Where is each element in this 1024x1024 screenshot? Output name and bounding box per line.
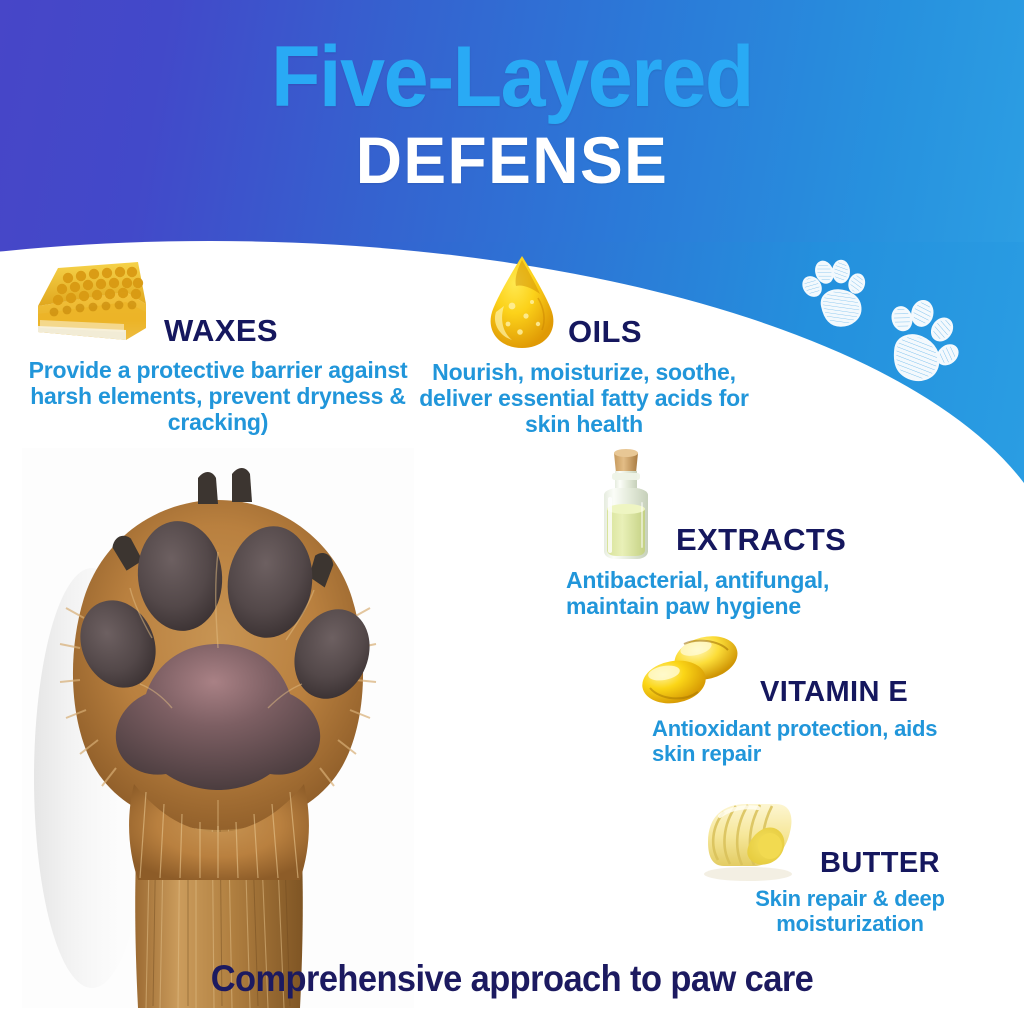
ingredient-butter-head: BUTTER xyxy=(690,798,998,882)
ingredient-extracts-head: EXTRACTS xyxy=(588,447,896,563)
ingredient-waxes-head: WAXES xyxy=(28,252,422,352)
ingredient-oils-name: OILS xyxy=(568,316,642,347)
ingredient-oils-description: Nourish, moisturize, soothe, deliver ess… xyxy=(404,360,764,437)
oil-droplet-icon xyxy=(482,250,562,354)
ingredient-waxes-description: Provide a protective barrier against har… xyxy=(22,358,414,435)
ingredient-extracts: EXTRACTS Antibacterial, antifungal, main… xyxy=(566,447,896,620)
ingredient-oils-head: OILS xyxy=(482,250,774,354)
ingredient-oils: OILS Nourish, moisturize, soothe, delive… xyxy=(404,250,774,437)
page-title: Five-Layered xyxy=(31,34,994,120)
ingredient-extracts-description: Antibacterial, antifungal, maintain paw … xyxy=(566,568,896,620)
honeycomb-icon xyxy=(28,252,154,352)
ingredient-waxes: WAXES Provide a protective barrier again… xyxy=(22,252,422,435)
ingredient-waxes-name: WAXES xyxy=(164,315,278,346)
dog-paw-photo xyxy=(22,448,414,1008)
glass-bottle-icon xyxy=(588,447,664,563)
softgel-capsules-icon xyxy=(640,632,746,712)
page-subtitle: DEFENSE xyxy=(15,126,1008,195)
butter-curl-icon xyxy=(690,798,802,882)
paw-print-icon xyxy=(880,291,971,391)
ingredient-vitamin-e-head: VITAMIN E xyxy=(640,632,960,712)
footer-caption: Comprehensive approach to paw care xyxy=(36,958,988,1000)
ingredient-vitamin-e-description: Antioxidant protection, aids skin repair xyxy=(652,717,960,766)
ingredient-butter-description: Skin repair & deep moisturization xyxy=(700,887,1000,936)
ingredient-butter: BUTTER Skin repair & deep moisturization xyxy=(678,798,998,936)
infographic-canvas: Five-Layered DEFENSE xyxy=(0,0,1024,1024)
ingredient-extracts-name: EXTRACTS xyxy=(676,524,846,555)
ingredient-vitamin-e-name: VITAMIN E xyxy=(760,678,908,707)
ingredient-vitamin-e: VITAMIN E Antioxidant protection, aids s… xyxy=(630,632,960,766)
ingredient-butter-name: BUTTER xyxy=(820,849,940,878)
header-title-group: Five-Layered DEFENSE xyxy=(0,34,1024,195)
